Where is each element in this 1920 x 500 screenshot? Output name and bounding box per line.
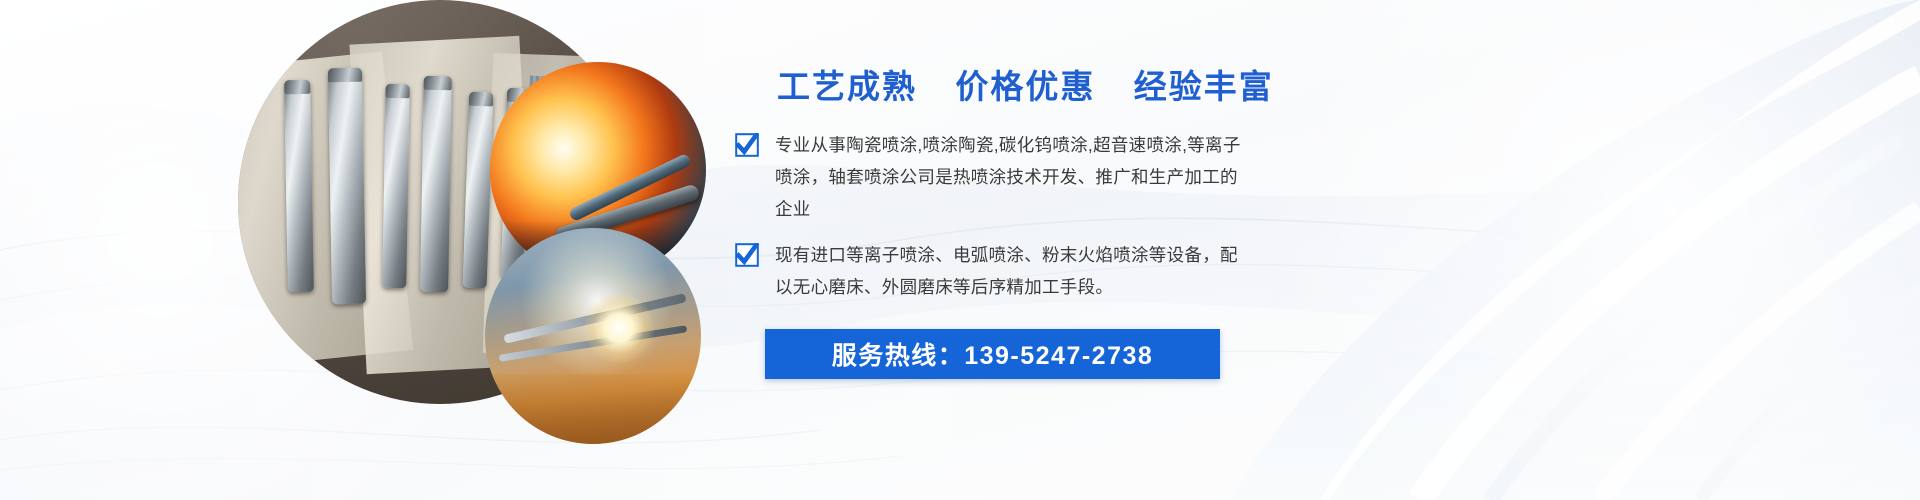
bullet-item: 现有进口等离子喷涂、电弧喷涂、粉末火焰喷涂等设备，配以无心磨床、外圆磨床等后序精… <box>735 239 1555 303</box>
headline: 工艺成熟 价格优惠 经验丰富 <box>777 70 1555 103</box>
photo-cluster <box>0 0 760 500</box>
service-hotline-bar[interactable]: 服务热线：139-5247-2738 <box>765 329 1220 379</box>
service-hotline-text: 服务热线：139-5247-2738 <box>832 336 1154 372</box>
headline-part-1: 工艺成熟 <box>777 68 917 105</box>
bullet-text: 现有进口等离子喷涂、电弧喷涂、粉末火焰喷涂等设备，配以无心磨床、外圆磨床等后序精… <box>775 239 1255 303</box>
bullet-text: 专业从事陶瓷喷涂,喷涂陶瓷,碳化钨喷涂,超音速喷涂,等离子喷涂，轴套喷涂公司是热… <box>775 129 1255 225</box>
headline-part-2: 价格优惠 <box>955 68 1095 105</box>
content-column: 工艺成熟 价格优惠 经验丰富 专业从事陶瓷喷涂,喷涂陶瓷,碳化钨喷涂,超音速喷涂… <box>735 70 1555 317</box>
bullet-item: 专业从事陶瓷喷涂,喷涂陶瓷,碳化钨喷涂,超音速喷涂,等离子喷涂，轴套喷涂公司是热… <box>735 129 1555 225</box>
headline-part-3: 经验丰富 <box>1134 68 1274 105</box>
welding-workshop-photo <box>485 228 701 444</box>
blue-checkbox-icon <box>735 133 759 157</box>
promo-banner: 工艺成熟 价格优惠 经验丰富 专业从事陶瓷喷涂,喷涂陶瓷,碳化钨喷涂,超音速喷涂… <box>0 0 1920 500</box>
blue-checkbox-icon <box>735 243 759 267</box>
bullet-list: 专业从事陶瓷喷涂,喷涂陶瓷,碳化钨喷涂,超音速喷涂,等离子喷涂，轴套喷涂公司是热… <box>735 129 1555 303</box>
